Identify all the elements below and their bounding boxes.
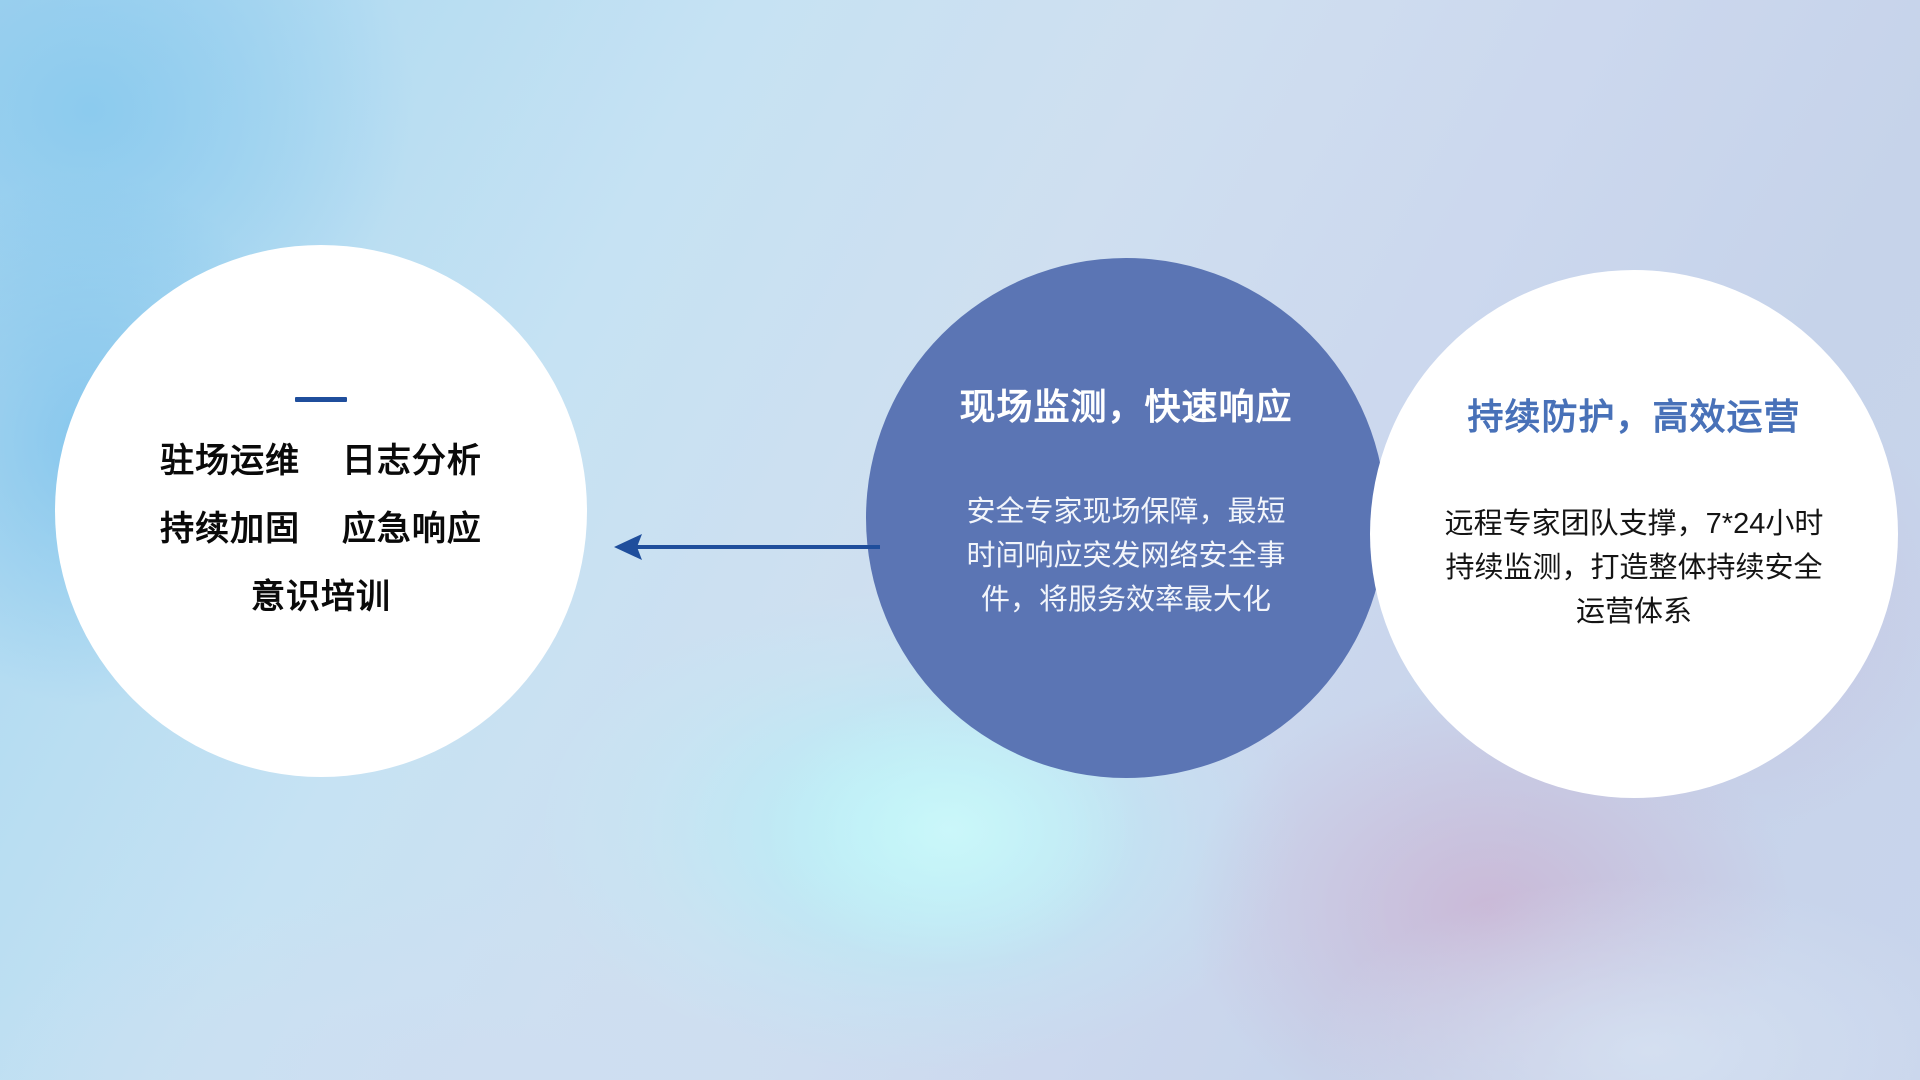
list-item: 持续加固 应急响应 [160, 512, 482, 546]
slide-canvas: 现场监测，快速响应 安全专家现场保障，最短时间响应突发网络安全事件，将服务效率最… [0, 0, 1920, 1080]
list-item: 意识培训 [160, 580, 482, 614]
service-keywords-circle[interactable]: 驻场运维 日志分析 持续加固 应急响应 意识培训 [55, 245, 587, 777]
continuous-protection-title: 持续防护，高效运营 [1467, 388, 1800, 440]
onsite-monitoring-body: 安全专家现场保障，最短时间响应突发网络安全事件，将服务效率最大化 [961, 490, 1291, 622]
accent-dash-icon [295, 397, 347, 402]
service-keyword-list: 驻场运维 日志分析 持续加固 应急响应 意识培训 [160, 444, 482, 614]
continuous-protection-circle[interactable]: 持续防护，高效运营 远程专家团队支撑，7*24小时持续监测，打造整体持续安全运营… [1370, 270, 1898, 798]
arrow-icon [612, 522, 880, 572]
continuous-protection-body: 远程专家团队支撑，7*24小时持续监测，打造整体持续安全运营体系 [1434, 502, 1834, 634]
list-item: 驻场运维 日志分析 [160, 444, 482, 478]
onsite-monitoring-title: 现场监测，快速响应 [959, 378, 1292, 430]
onsite-monitoring-circle[interactable]: 现场监测，快速响应 安全专家现场保障，最短时间响应突发网络安全事件，将服务效率最… [866, 258, 1386, 778]
left-pointing-arrow [612, 522, 880, 572]
